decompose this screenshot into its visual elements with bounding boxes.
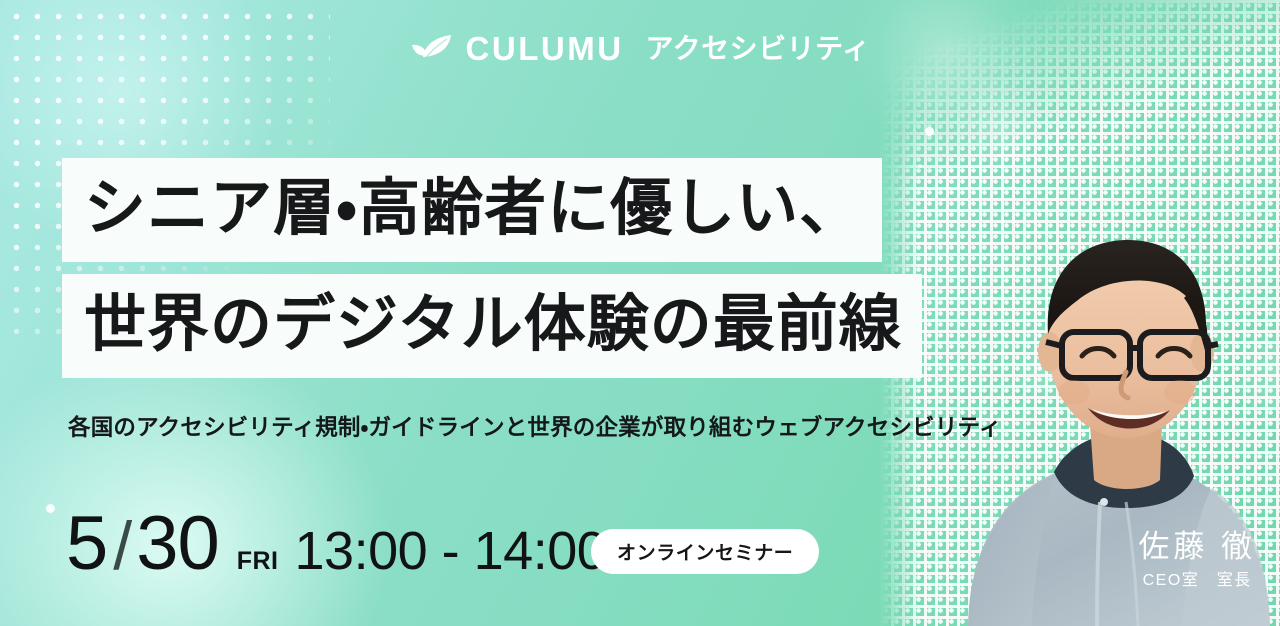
event-day-of-week: FRI [237,549,279,574]
event-date-row: 5 / 30 FRI 13:00 - 14:00 [66,506,606,582]
event-day: 30 [136,506,219,582]
brand-logo: CULUMU アクセシビリティ [0,32,1280,65]
speaker-info: 佐藤 徹 CEO室 室長 [1138,530,1256,590]
event-month: 5 [66,506,107,582]
webinar-banner: CULUMU アクセシビリティ シニア層・高齢者に優しい、 世界のデジタル体験の… [0,0,1280,626]
subheadline: 各国のアクセシビリティ規制・ガイドラインと世界の企業が取り組むウェブアクセシビリ… [68,416,1002,441]
sparkle-dot [46,504,55,513]
event-time: 13:00 - 14:00 [295,524,607,578]
event-format-badge: オンラインセミナー [591,529,819,574]
headline-line-1: シニア層・高齢者に優しい、 [62,158,882,262]
speaker-name: 佐藤 徹 [1138,530,1256,564]
leaf-icon [410,33,454,65]
sparkle-dot [925,127,934,136]
headline-line-2: 世界のデジタル体験の最前線 [62,274,922,378]
date-separator: / [113,512,132,580]
speaker-role: CEO室 室長 [1138,572,1256,590]
headline: シニア層・高齢者に優しい、 世界のデジタル体験の最前線 [62,158,1280,378]
logo-brand-text: CULUMU [466,32,624,65]
logo-subtitle-text: アクセシビリティ [646,35,871,63]
